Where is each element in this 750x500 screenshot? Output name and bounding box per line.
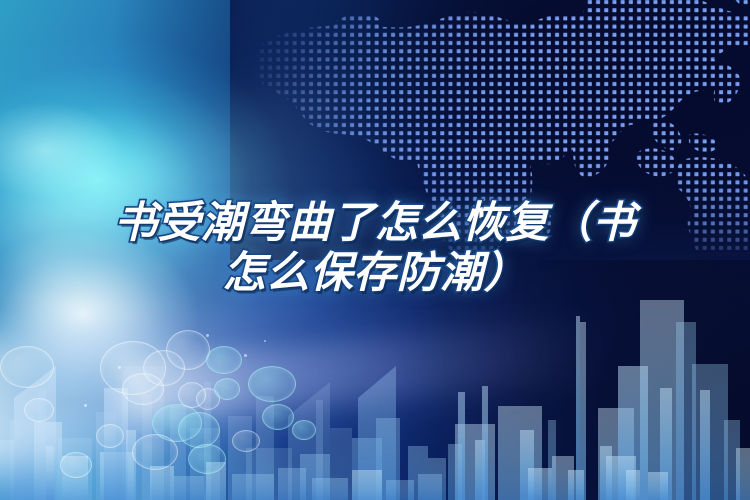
banner-title: 书受潮弯曲了怎么恢复（书 怎么保存防潮） [0,198,750,298]
banner-image: 书受潮弯曲了怎么恢复（书 怎么保存防潮） [0,0,750,500]
title-line-2: 怎么保存防潮） [0,248,750,298]
title-line-1: 书受潮弯曲了怎么恢复（书 [0,198,750,248]
